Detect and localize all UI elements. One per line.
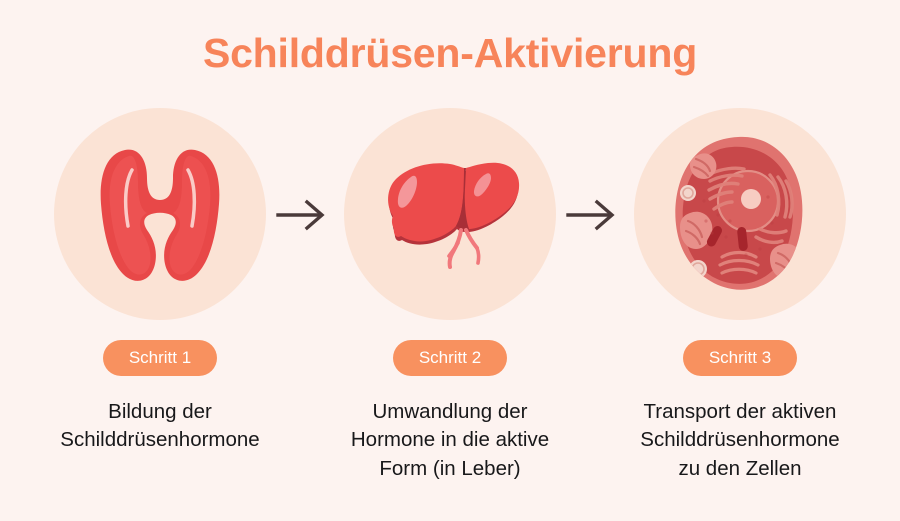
animal-cell-icon <box>660 129 820 299</box>
step-caption-1: Bildung der Schilddrüsenhormone <box>60 398 259 455</box>
step-column-1: Schritt 1 Bildung der Schilddrüsenhormon… <box>15 108 305 455</box>
infographic-container: Schilddrüsen-Aktivierung Schritt 1 Bildu… <box>0 0 900 521</box>
illustration-circle-3 <box>634 108 846 320</box>
thyroid-gland-icon <box>85 134 235 294</box>
step-badge-3: Schritt 3 <box>683 340 797 376</box>
illustration-circle-1 <box>54 108 266 320</box>
step-caption-2: Umwandlung der Hormone in die aktive For… <box>351 398 549 483</box>
arrow-step-1-to-2-icon <box>276 196 328 234</box>
illustration-circle-2 <box>344 108 556 320</box>
liver-icon <box>365 144 535 284</box>
step-column-2: Schritt 2 Umwandlung der Hormone in die … <box>305 108 595 483</box>
step-column-3: Schritt 3 Transport der aktiven Schilddr… <box>595 108 885 483</box>
step-caption-3: Transport der aktiven Schilddrüsenhormon… <box>640 398 839 483</box>
step-badge-1: Schritt 1 <box>103 340 217 376</box>
page-title: Schilddrüsen-Aktivierung <box>0 30 900 77</box>
arrow-step-2-to-3-icon <box>566 196 618 234</box>
step-badge-2: Schritt 2 <box>393 340 507 376</box>
